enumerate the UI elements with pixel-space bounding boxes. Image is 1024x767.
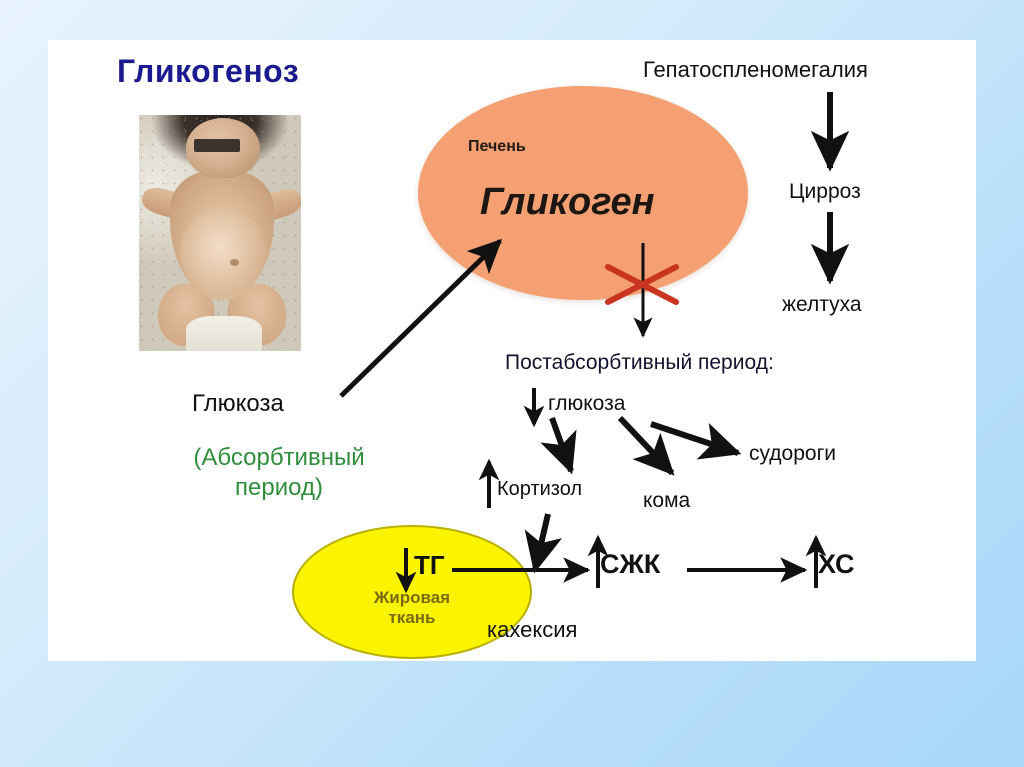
label-coma: кома <box>643 489 690 512</box>
label-triglycerides: ТГ <box>414 551 445 580</box>
slide-stage: Гликогеноз Печень Гликоген Гепатоспленом… <box>0 0 1024 767</box>
label-cirrhosis: Цирроз <box>789 180 861 203</box>
heading-postabsorptive-period: Постабсорбтивный период: <box>505 351 774 374</box>
clinical-photo-infant <box>136 112 304 354</box>
glycogen-label: Гликоген <box>480 182 655 224</box>
label-cramps: судороги <box>749 442 836 465</box>
label-glucose-absorptive: Глюкоза <box>192 391 284 417</box>
label-cholesterol: ХС <box>818 550 854 580</box>
label-jaundice: желтуха <box>782 293 862 316</box>
liver-organ-label: Печень <box>468 138 526 156</box>
label-cachexia: кахексия <box>487 618 577 642</box>
label-cortisol: Кортизол <box>497 478 582 500</box>
label-hepatosplenomegaly: Гепатоспленомегалия <box>643 58 868 82</box>
label-absorptive-period: (Абсорбтивный период) <box>153 443 405 503</box>
label-free-fatty-acids: СЖК <box>600 550 660 580</box>
photo-frame <box>136 112 304 354</box>
label-glucose-postabsorptive: глюкоза <box>548 392 625 415</box>
label-fat-tissue: Жировая ткань <box>366 588 458 627</box>
page-title: Гликогеноз <box>117 54 299 89</box>
